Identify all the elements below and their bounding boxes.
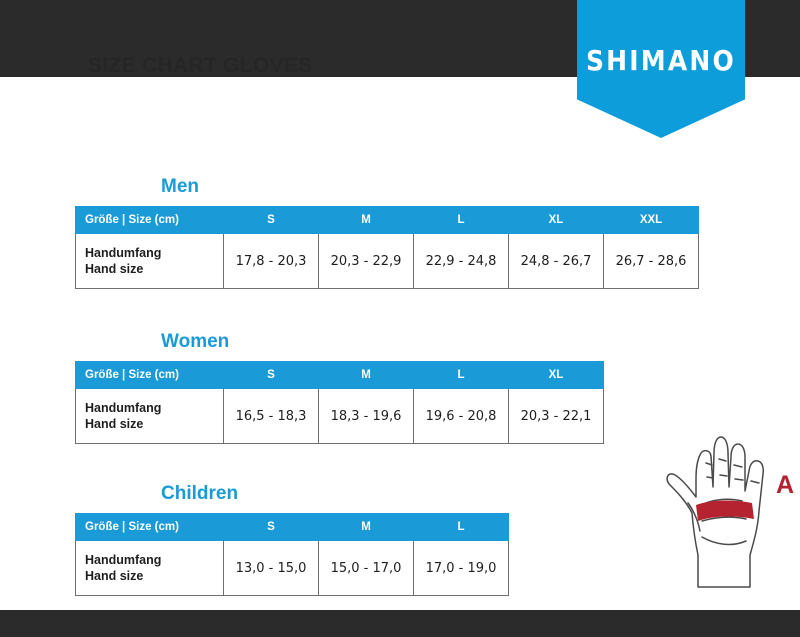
column-header-label: Größe | Size (cm)	[76, 207, 224, 234]
section-title-women: Women	[75, 331, 604, 353]
section-men: Men Größe | Size (cm) S M L XL XXL Handu…	[75, 176, 699, 289]
column-header-s: S	[224, 362, 319, 389]
shimano-brand-banner: SHIMANO	[577, 0, 745, 138]
hand-icon	[628, 415, 800, 595]
column-header-xxl: XXL	[604, 207, 699, 234]
cell-children-l: 17,0 - 19,0	[414, 541, 509, 596]
hand-measurement-illustration: A	[628, 415, 800, 595]
cell-children-s: 13,0 - 15,0	[224, 541, 319, 596]
column-header-label: Größe | Size (cm)	[76, 514, 224, 541]
cell-men-s: 17,8 - 20,3	[224, 234, 319, 289]
table-header-row: Größe | Size (cm) S M L XL	[76, 362, 604, 389]
column-header-xl: XL	[509, 362, 604, 389]
column-header-s: S	[224, 514, 319, 541]
column-header-l: L	[414, 207, 509, 234]
row-label-line-de: Handumfang	[85, 552, 223, 568]
cell-children-m: 15,0 - 17,0	[319, 541, 414, 596]
column-header-xl: XL	[509, 207, 604, 234]
column-header-m: M	[319, 207, 414, 234]
section-title-children: Children	[75, 483, 509, 505]
cell-women-l: 19,6 - 20,8	[414, 389, 509, 444]
section-children: Children Größe | Size (cm) S M L Handumf…	[75, 483, 509, 596]
column-header-l: L	[414, 362, 509, 389]
section-women: Women Größe | Size (cm) S M L XL Handumf…	[75, 331, 604, 444]
table-row: Handumfang Hand size 13,0 - 15,0 15,0 - …	[76, 541, 509, 596]
cell-men-xxl: 26,7 - 28,6	[604, 234, 699, 289]
cell-men-xl: 24,8 - 26,7	[509, 234, 604, 289]
row-label-line-de: Handumfang	[85, 245, 223, 261]
table-row: Handumfang Hand size 16,5 - 18,3 18,3 - …	[76, 389, 604, 444]
row-label-hand-size: Handumfang Hand size	[76, 234, 224, 289]
row-label-line-de: Handumfang	[85, 400, 223, 416]
cell-women-xl: 20,3 - 22,1	[509, 389, 604, 444]
cell-men-l: 22,9 - 24,8	[414, 234, 509, 289]
column-header-m: M	[319, 514, 414, 541]
table-header-row: Größe | Size (cm) S M L XL XXL	[76, 207, 699, 234]
section-title-men: Men	[75, 176, 699, 198]
column-header-l: L	[414, 514, 509, 541]
table-row: Handumfang Hand size 17,8 - 20,3 20,3 - …	[76, 234, 699, 289]
row-label-hand-size: Handumfang Hand size	[76, 389, 224, 444]
measurement-label-a: A	[776, 471, 794, 500]
size-table-women: Größe | Size (cm) S M L XL Handumfang Ha…	[75, 361, 604, 444]
row-label-hand-size: Handumfang Hand size	[76, 541, 224, 596]
row-label-line-en: Hand size	[85, 416, 223, 432]
size-table-children: Größe | Size (cm) S M L Handumfang Hand …	[75, 513, 509, 596]
cell-women-m: 18,3 - 19,6	[319, 389, 414, 444]
cell-women-s: 16,5 - 18,3	[224, 389, 319, 444]
table-header-row: Größe | Size (cm) S M L	[76, 514, 509, 541]
column-header-label: Größe | Size (cm)	[76, 362, 224, 389]
column-header-s: S	[224, 207, 319, 234]
page-title: SIZE CHART GLOVES	[88, 54, 312, 78]
row-label-line-en: Hand size	[85, 568, 223, 584]
column-header-m: M	[319, 362, 414, 389]
cell-men-m: 20,3 - 22,9	[319, 234, 414, 289]
size-table-men: Größe | Size (cm) S M L XL XXL Handumfan…	[75, 206, 699, 289]
row-label-line-en: Hand size	[85, 261, 223, 277]
footer-band	[0, 610, 800, 637]
shimano-logo: SHIMANO	[577, 44, 745, 76]
